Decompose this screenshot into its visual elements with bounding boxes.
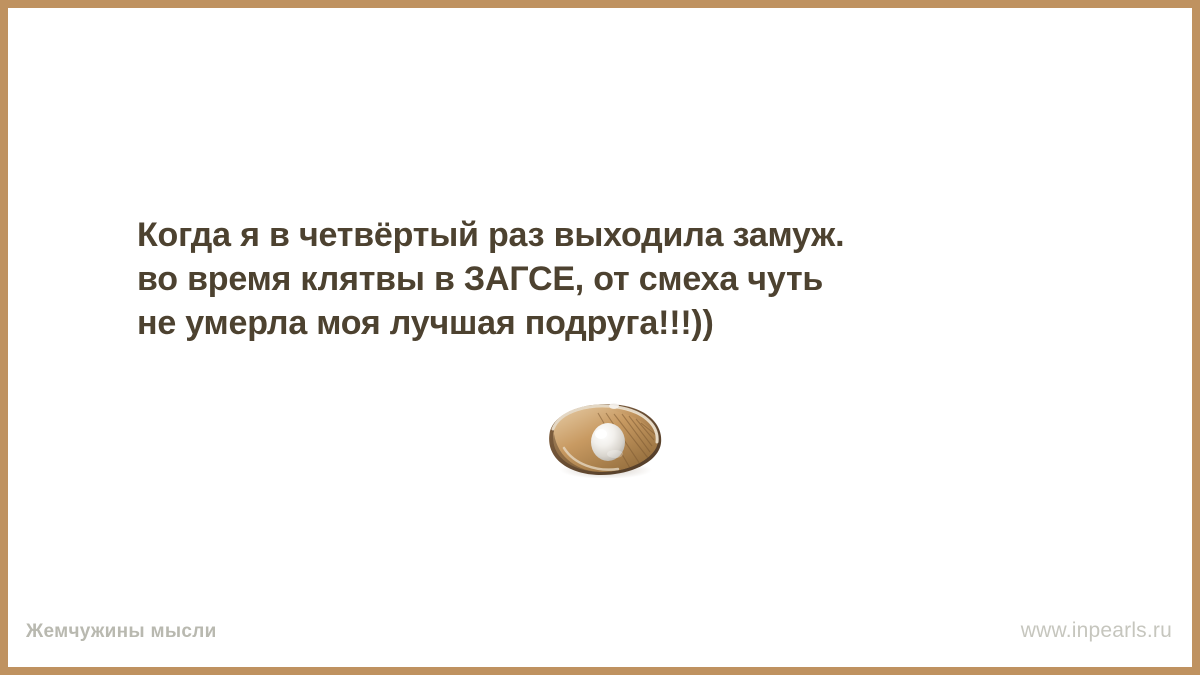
- quote-line-3: не умерла моя лучшая подруга!!!)): [137, 301, 937, 345]
- oyster-shell-with-pearl-icon: [544, 400, 664, 478]
- quote-line-1: Когда я в четвёртый раз выходила замуж.: [137, 213, 937, 257]
- quote-card: Когда я в четвёртый раз выходила замуж. …: [0, 0, 1200, 675]
- site-tagline: Жемчужины мысли: [26, 621, 217, 643]
- quote-line-2: во время клятвы в ЗАГСЕ, от смеха чуть: [137, 257, 937, 301]
- quote-text-block: Когда я в четвёртый раз выходила замуж. …: [137, 213, 937, 345]
- site-url[interactable]: www.inpearls.ru: [1021, 619, 1172, 643]
